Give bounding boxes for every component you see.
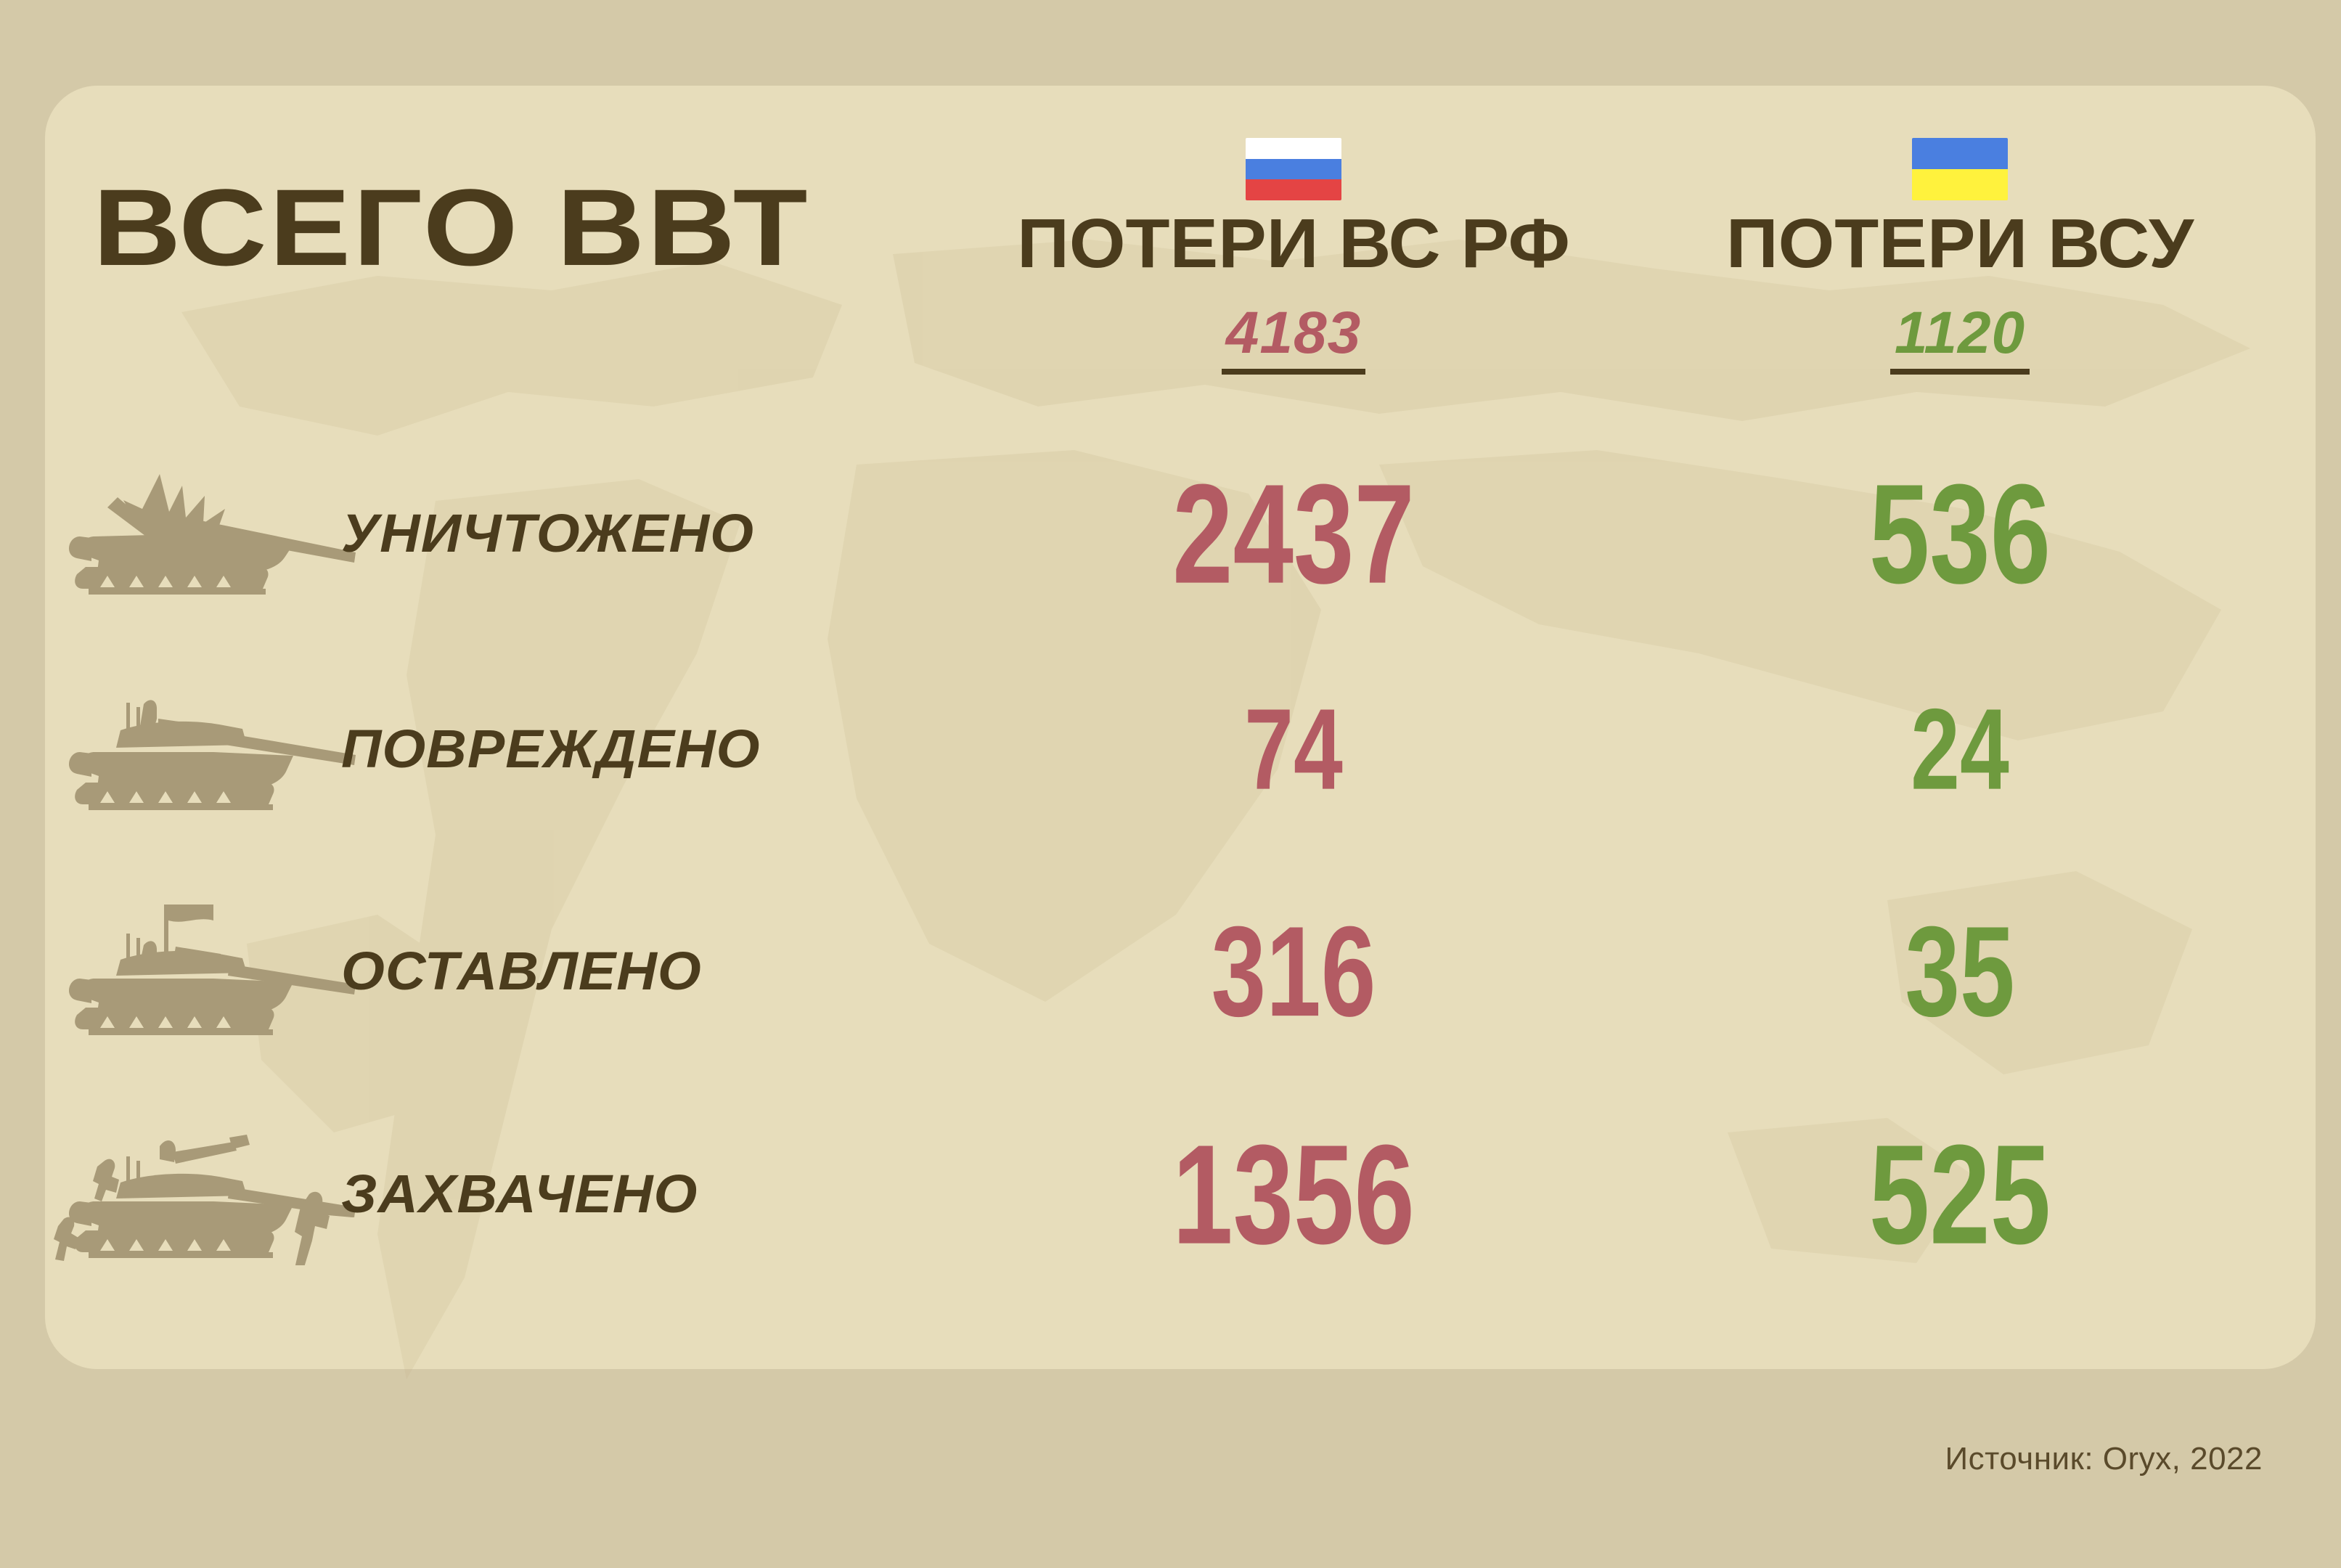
- row-label: ПОВРЕЖДЕНО: [341, 722, 761, 776]
- page-title: ВСЕГО ВВТ: [93, 173, 810, 282]
- column-label-russia: ПОТЕРИ ВС РФ: [954, 209, 1633, 279]
- column-total-russia: 4183: [1222, 303, 1365, 375]
- row-label: ОСТАВЛЕНО: [341, 944, 702, 998]
- row-value-russia: 316: [967, 907, 1620, 1036]
- row-value-ukraine: 35: [1662, 907, 2258, 1036]
- row-value-russia: 74: [967, 692, 1620, 807]
- row-label: УНИЧТОЖЕНО: [341, 507, 754, 560]
- row-value-ukraine: 24: [1662, 692, 2258, 807]
- row-value-russia: 2437: [967, 463, 1620, 605]
- column-header-ukraine: ПОТЕРИ ВСУ 1120: [1662, 138, 2258, 375]
- column-header-russia: ПОТЕРИ ВС РФ 4183: [967, 138, 1620, 375]
- row-label: ЗАХВАЧЕНО: [341, 1167, 698, 1221]
- row-value-ukraine: 525: [1662, 1124, 2258, 1265]
- column-total-ukraine: 1120: [1890, 303, 2030, 375]
- infographic-poster: ВСЕГО ВВТ ПОТЕРИ ВС РФ 4183 ПОТЕРИ ВСУ 1…: [0, 0, 2341, 1568]
- row-value-ukraine: 536: [1662, 463, 2258, 605]
- row-value-russia: 1356: [967, 1124, 1620, 1265]
- ukraine-flag-icon: [1912, 138, 2008, 200]
- column-label-ukraine: ПОТЕРИ ВСУ: [1651, 209, 2270, 279]
- source-note: Источник: Oryx, 2022: [1945, 1443, 2263, 1475]
- russia-flag-icon: [1246, 138, 1341, 200]
